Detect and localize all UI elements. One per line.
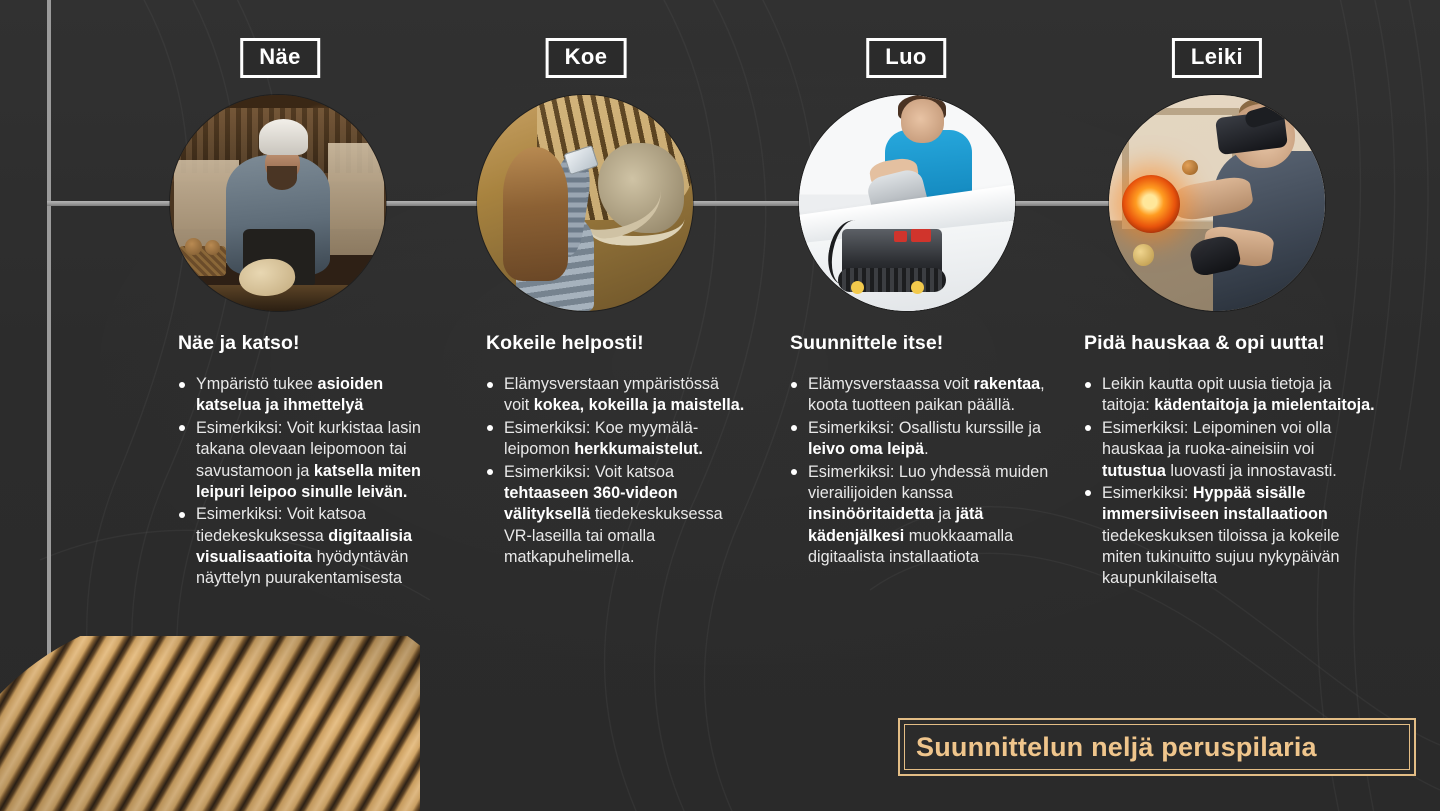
chip-label-text: Koe	[565, 44, 608, 69]
bullet-text: ja	[934, 505, 956, 523]
pillar-bullet-item: Elämysverstaassa voit rakentaa, koota tu…	[790, 374, 1055, 417]
pillar-bullet-item: Esimerkiksi: Osallistu kurssille ja leiv…	[790, 418, 1055, 461]
bullet-emphasis-text: tutustua	[1102, 462, 1166, 480]
vr-headset-solar-hologram-photo	[1109, 95, 1325, 311]
pillar-bullet-item: Esimerkiksi: Leipominen voi olla hauskaa…	[1084, 418, 1376, 482]
baker-kneading-dough-photo	[170, 95, 386, 311]
bullet-text: Esimerkiksi: Osallistu kurssille ja	[808, 419, 1041, 437]
bullet-text: tiedekeskuksen tiloissa ja kokeile miten…	[1102, 527, 1340, 588]
chip-label-text: Näe	[259, 44, 301, 69]
bullet-emphasis-text: kokea, kokeilla ja maistella.	[534, 396, 745, 414]
pillar-bullet-item: Esimerkiksi: Luo yhdessä muiden vieraili…	[790, 462, 1055, 569]
pillar-column-2: Kokeile helposti! Elämysverstaan ympäris…	[486, 332, 748, 569]
pillar-bullet-item: Elämysverstaan ympäristössä voit kokea, …	[486, 374, 748, 417]
pillar-column-4: Pidä hauskaa & opi uutta! Leikin kautta …	[1084, 332, 1376, 591]
chip-label-text: Leiki	[1191, 44, 1243, 69]
pillar-bullet-item: Esimerkiksi: Voit katsoa tehtaaseen 360-…	[486, 462, 748, 569]
chip-label-text: Luo	[885, 44, 927, 69]
chip-label-luo[interactable]: Luo	[866, 38, 946, 78]
pillar-bullet-item: Esimerkiksi: Hyppää sisälle immersiivise…	[1084, 483, 1376, 590]
pillar-bullet-item: Leikin kautta opit uusia tietoja ja tait…	[1084, 374, 1376, 417]
bullet-text: luovasti ja innostavasti.	[1166, 462, 1337, 480]
pillar-bullet-item: Esimerkiksi: Voit kurkistaa lasin takana…	[178, 418, 443, 504]
bullet-text: Esimerkiksi:	[1102, 484, 1193, 502]
pillar-title: Suunnittele itse!	[790, 332, 1055, 355]
girl-photographing-mammoth-photo	[477, 95, 693, 311]
bullet-text: Ympäristö tukee	[196, 375, 317, 393]
wooden-slat-structure-photo	[0, 636, 420, 811]
bullet-emphasis-text: kädentaitoja ja mielentaitoja.	[1154, 396, 1374, 414]
boy-building-lego-robot-photo	[799, 95, 1015, 311]
pillar-bullet-item: Esimerkiksi: Koe myymälä-leipomon herkku…	[486, 418, 748, 461]
footer-title-bar: Suunnittelun neljä peruspilaria	[898, 718, 1416, 776]
pillar-column-3: Suunnittele itse! Elämysverstaassa voit …	[790, 332, 1055, 569]
pillar-title: Näe ja katso!	[178, 332, 443, 355]
chip-label-leiki[interactable]: Leiki	[1172, 38, 1262, 78]
pillar-bullet-list: Elämysverstaan ympäristössä voit kokea, …	[486, 374, 748, 568]
pillar-bullet-item: Esimerkiksi: Voit katsoa tiedekeskuksess…	[178, 504, 443, 590]
bullet-text: Esimerkiksi: Luo yhdessä muiden vieraili…	[808, 463, 1048, 502]
pillar-column-1: Näe ja katso! Ympäristö tukee asioiden k…	[178, 332, 443, 591]
bullet-text: .	[924, 440, 929, 458]
chip-label-koe[interactable]: Koe	[546, 38, 627, 78]
pillar-bullet-list: Leikin kautta opit uusia tietoja ja tait…	[1084, 374, 1376, 590]
bullet-emphasis-text: herkkumaistelut.	[574, 440, 703, 458]
bullet-emphasis-text: rakentaa	[974, 375, 1041, 393]
bullet-text: Elämysverstaassa voit	[808, 375, 974, 393]
pillar-bullet-item: Ympäristö tukee asioiden katselua ja ihm…	[178, 374, 443, 417]
chip-label-nae[interactable]: Näe	[240, 38, 320, 78]
bullet-emphasis-text: insinööritaidetta	[808, 505, 934, 523]
pillar-bullet-list: Ympäristö tukee asioiden katselua ja ihm…	[178, 374, 443, 590]
pillar-title: Kokeile helposti!	[486, 332, 748, 355]
bullet-emphasis-text: leivo oma leipä	[808, 440, 924, 458]
bullet-text: Esimerkiksi: Leipominen voi olla hauskaa…	[1102, 419, 1331, 458]
footer-title-text: Suunnittelun neljä peruspilaria	[916, 732, 1317, 763]
pillar-bullet-list: Elämysverstaassa voit rakentaa, koota tu…	[790, 374, 1055, 568]
slide-root: Näe Koe Luo Leiki	[0, 0, 1440, 811]
pillar-title: Pidä hauskaa & opi uutta!	[1084, 332, 1376, 355]
bullet-text: Esimerkiksi: Voit katsoa	[504, 463, 674, 481]
